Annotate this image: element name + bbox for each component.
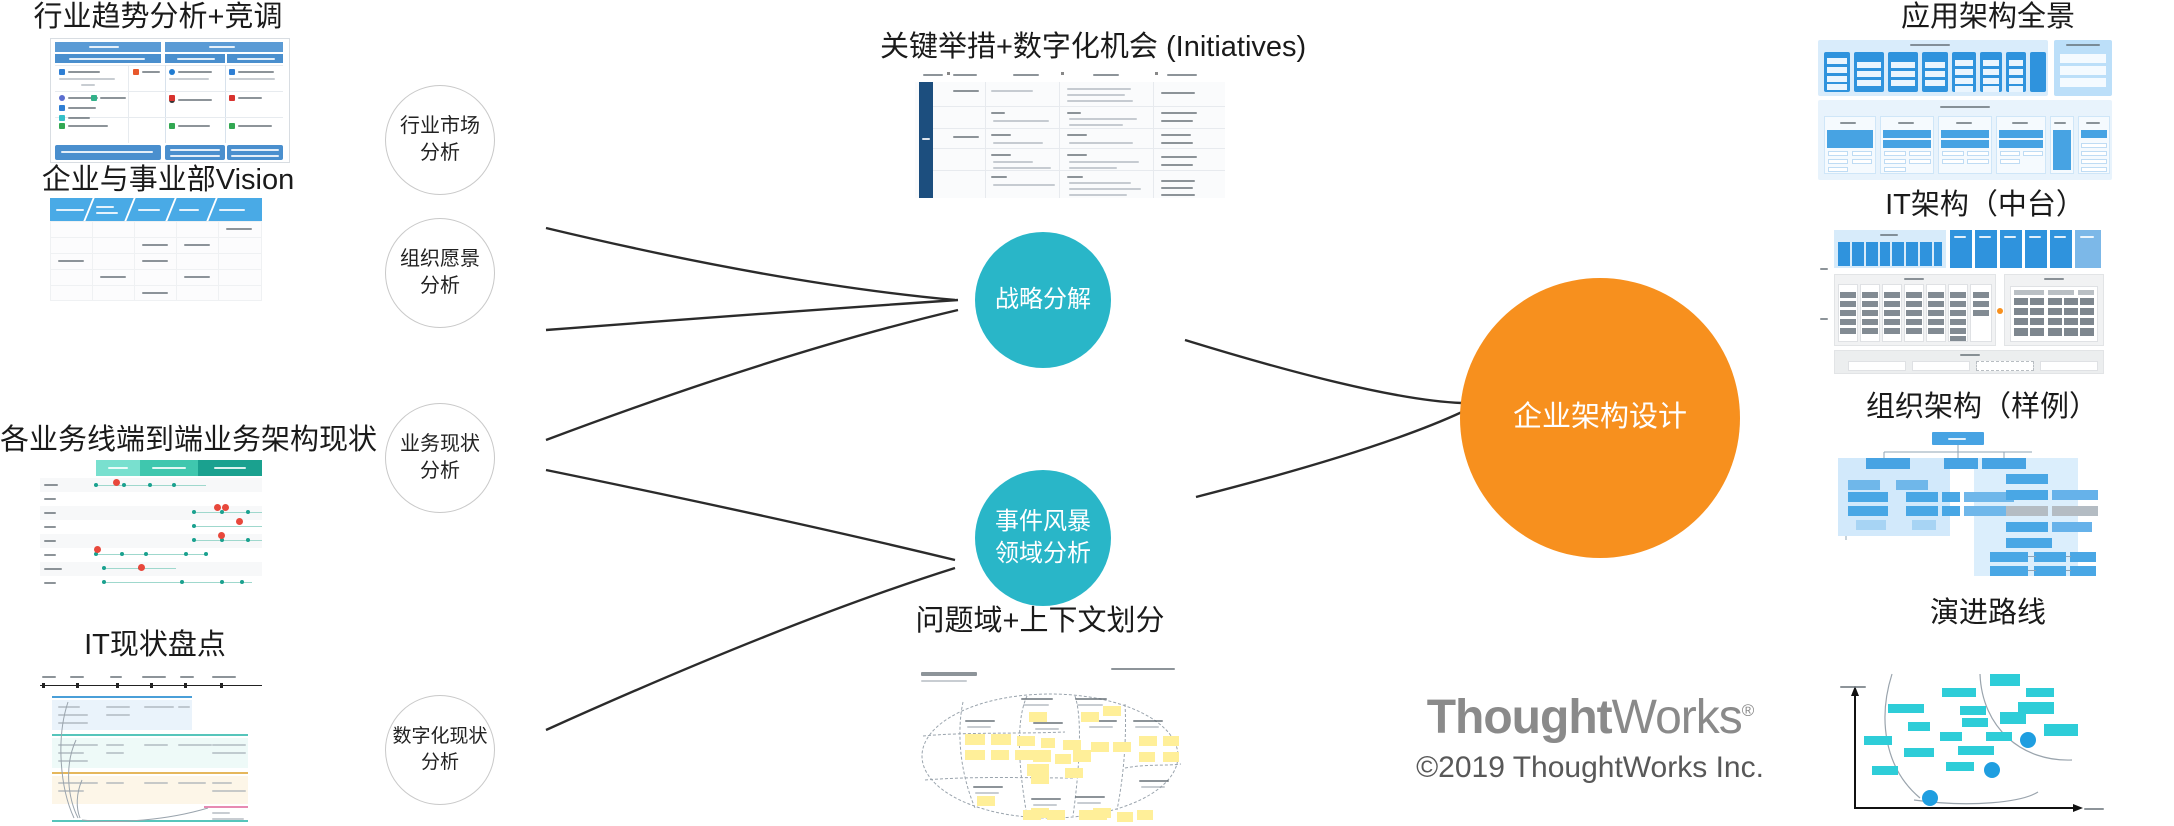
analysis-circle-market-line1: 行业市场 — [400, 113, 480, 140]
center-circle-strategy-breakdown[interactable]: 战略分解 — [975, 232, 1111, 368]
analysis-circle-vision-line2: 分析 — [400, 273, 480, 300]
analysis-circle-digital-line2: 分析 — [392, 750, 487, 776]
analysis-circle-business-line1: 业务现状 — [400, 431, 480, 458]
analysis-circle-business[interactable]: 业务现状 分析 — [385, 403, 495, 513]
analysis-circle-market[interactable]: 行业市场 分析 — [385, 85, 495, 195]
slide-canvas: 行业趋势分析+竞调 — [0, 0, 2174, 826]
center-circle-event-storming-line2: 领域分析 — [995, 538, 1091, 570]
thumbnail-app-architecture[interactable] — [1810, 38, 2120, 184]
thoughtworks-logo: ThoughtWorks® — [1410, 690, 1770, 745]
thumbnail-initiatives[interactable] — [915, 68, 1225, 198]
thumbnail-vision[interactable] — [50, 198, 262, 303]
analysis-circle-market-line2: 分析 — [400, 140, 480, 167]
copyright-text: ©2019 ThoughtWorks Inc. — [1410, 751, 1770, 785]
panel-title-it-architecture: IT架构（中台） — [1870, 190, 2100, 222]
output-circle-label: 企业架构设计 — [1513, 398, 1687, 437]
analysis-circle-business-line2: 分析 — [400, 458, 480, 485]
analysis-circle-digital[interactable]: 数字化现状 分析 — [385, 695, 495, 805]
thumbnail-industry-trend[interactable] — [50, 38, 290, 163]
logo-light-part: Works — [1612, 691, 1742, 744]
panel-title-it-as-is: IT现状盘点 — [40, 630, 270, 662]
thumbnail-business-as-is[interactable] — [40, 460, 262, 590]
analysis-circle-digital-line1: 数字化现状 — [392, 724, 487, 750]
panel-title-org-architecture: 组织架构（样例） — [1862, 392, 2102, 424]
branding-block: ThoughtWorks® ©2019 ThoughtWorks Inc. — [1410, 690, 1770, 785]
thumbnail-it-as-is[interactable] — [38, 668, 264, 826]
panel-title-problem-domain: 问题域+上下文划分 — [890, 606, 1190, 638]
output-circle-enterprise-architecture[interactable]: 企业架构设计 — [1460, 278, 1740, 558]
thumbnail-roadmap[interactable] — [1822, 638, 2122, 824]
panel-title-roadmap: 演进路线 — [1898, 598, 2078, 630]
center-circle-event-storming[interactable]: 事件风暴 领域分析 — [975, 470, 1111, 606]
panel-title-vision: 企业与事业部Vision — [20, 165, 316, 197]
panel-title-initiatives: 关键举措+数字化机会 (Initiatives) — [880, 32, 1300, 64]
center-circle-strategy-breakdown-label: 战略分解 — [995, 284, 1091, 316]
panel-title-industry-trend: 行业趋势分析+竞调 — [0, 2, 316, 34]
analysis-circle-vision-line1: 组织愿景 — [400, 246, 480, 273]
registered-trademark-icon: ® — [1742, 701, 1754, 720]
thumbnail-it-architecture[interactable] — [1818, 228, 2110, 376]
logo-bold-part: Thought — [1427, 691, 1612, 744]
thumbnail-org-architecture[interactable] — [1822, 428, 2122, 578]
center-circle-event-storming-line1: 事件风暴 — [995, 506, 1091, 538]
analysis-circle-vision[interactable]: 组织愿景 分析 — [385, 218, 495, 328]
panel-title-app-architecture: 应用架构全景 — [1868, 2, 2108, 34]
panel-title-business-as-is: 各业务线端到端业务架构现状 — [0, 425, 340, 457]
thumbnail-problem-domain[interactable] — [915, 660, 1185, 826]
